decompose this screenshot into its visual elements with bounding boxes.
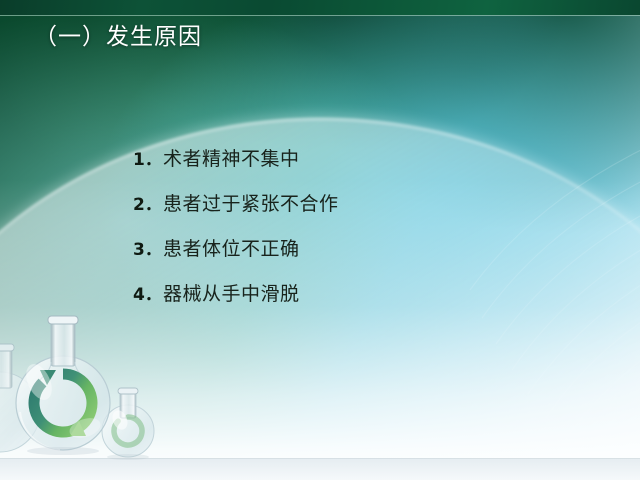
list-item: 3． 患者体位不正确 <box>133 236 533 281</box>
list-item: 2． 患者过于紧张不合作 <box>133 191 533 236</box>
list-item: 4． 器械从手中滑脱 <box>133 281 533 326</box>
list-item-number: 3． <box>133 237 163 263</box>
list-item-label: 器械从手中滑脱 <box>163 281 300 307</box>
list-item-label: 患者体位不正确 <box>163 236 300 262</box>
list-item: 1． 术者精神不集中 <box>133 146 533 191</box>
slide-top-band <box>0 0 640 15</box>
list-item-number: 2． <box>133 192 163 218</box>
list-item-label: 术者精神不集中 <box>163 146 300 172</box>
list-item-number: 1． <box>133 147 163 173</box>
cause-list: 1． 术者精神不集中 2． 患者过于紧张不合作 3． 患者体位不正确 4． 器械… <box>133 146 533 326</box>
slide-top-hairline <box>0 15 640 16</box>
presentation-slide: （一）发生原因 1． 术者精神不集中 2． 患者过于紧张不合作 3． 患者体位不… <box>0 0 640 480</box>
list-item-number: 4． <box>133 282 163 308</box>
list-item-label: 患者过于紧张不合作 <box>163 191 339 217</box>
page-title: （一）发生原因 <box>34 22 202 52</box>
